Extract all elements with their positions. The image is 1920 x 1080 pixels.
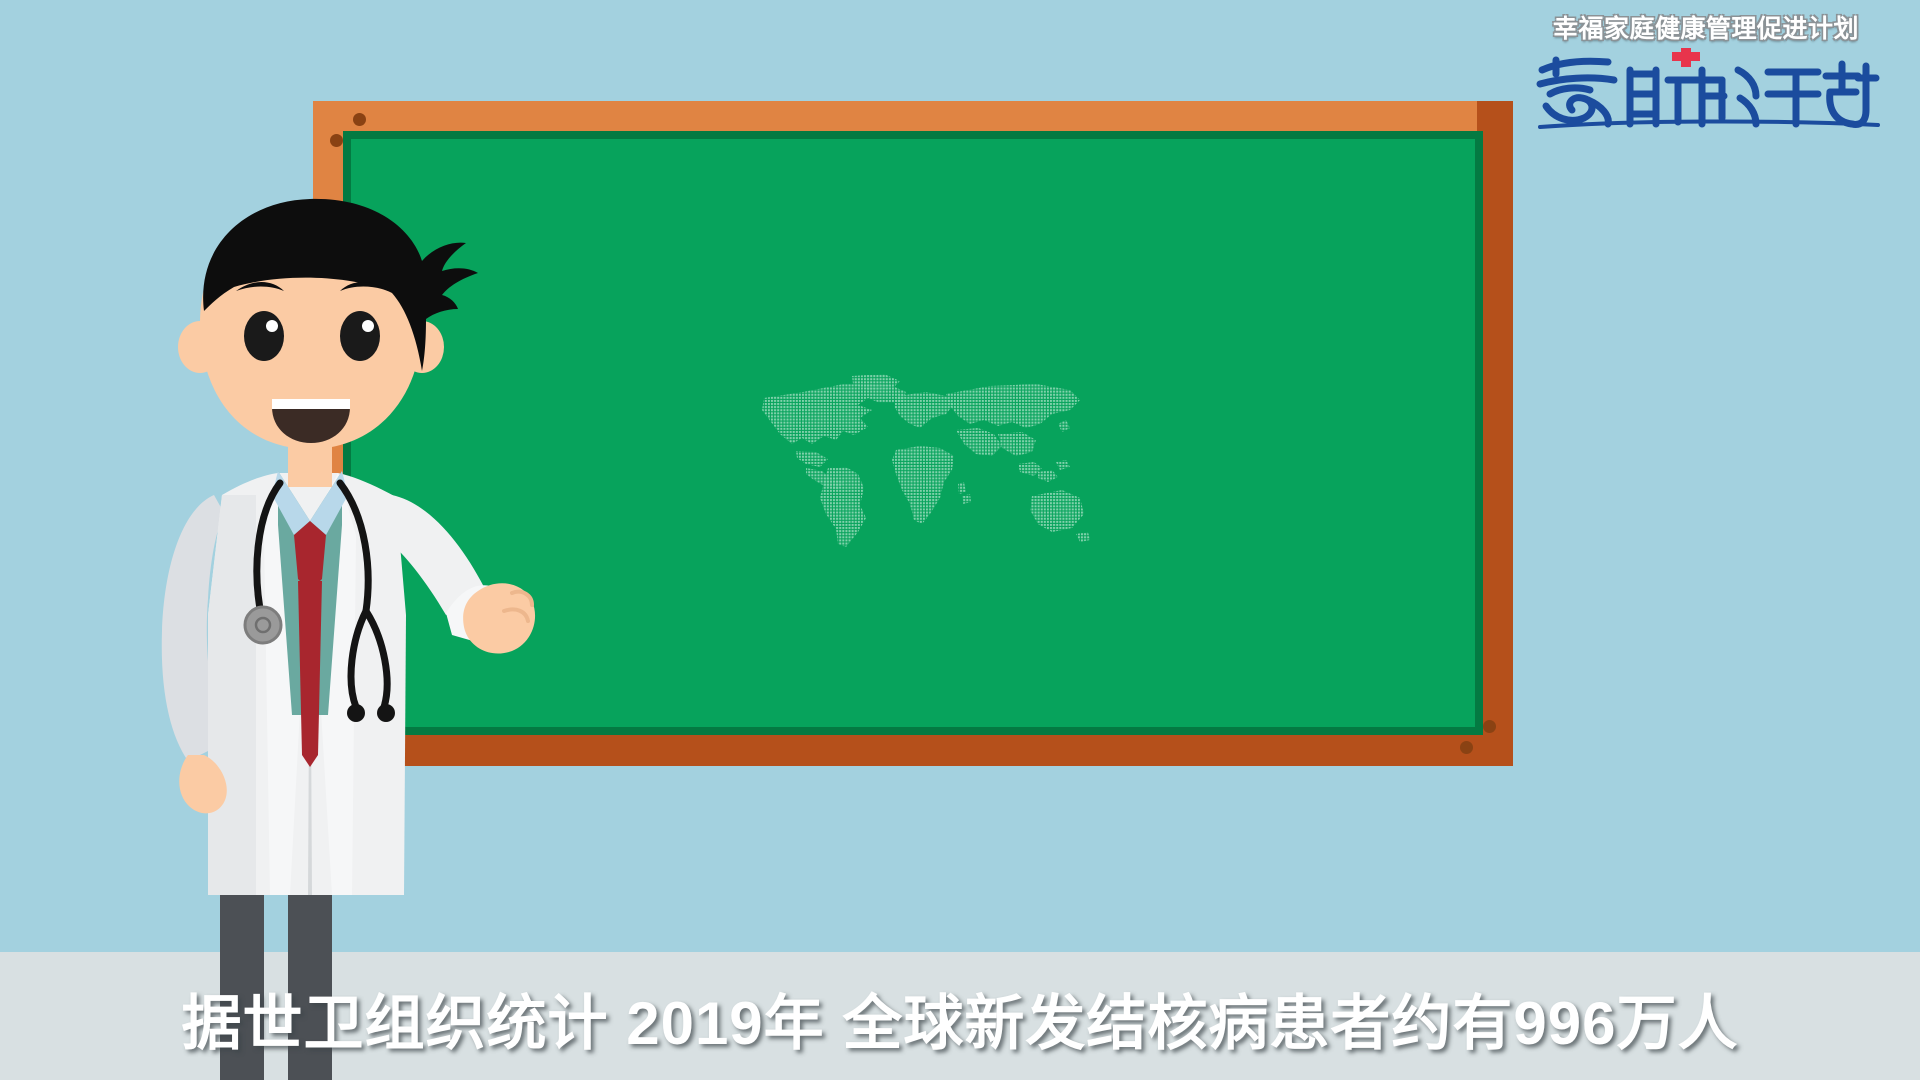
doctor-character	[160, 195, 580, 1080]
stethoscope-earpiece	[377, 704, 395, 722]
campaign-logo: 幸福家庭健康管理促进计划	[1526, 16, 1886, 130]
subtitle-caption: 据世卫组织统计 2019年 全球新发结核病患者约有996万人	[0, 975, 1920, 1062]
left-eye	[244, 311, 284, 361]
frame-screw	[353, 113, 366, 126]
frame-screw	[1460, 741, 1473, 754]
stethoscope-earpiece	[347, 704, 365, 722]
red-cross-icon	[1672, 48, 1700, 67]
frame-screw	[330, 134, 343, 147]
teeth	[272, 399, 350, 409]
video-frame: 幸福家庭健康管理促进计划	[0, 0, 1920, 1080]
right-eye	[340, 311, 380, 361]
head	[178, 199, 478, 449]
frame-screw	[1483, 720, 1496, 733]
program-title: 幸福家庭健康管理促进计划	[1526, 16, 1886, 44]
brand-logo-aifei-xingdong	[1526, 48, 1886, 130]
world-map-icon	[740, 372, 1100, 557]
